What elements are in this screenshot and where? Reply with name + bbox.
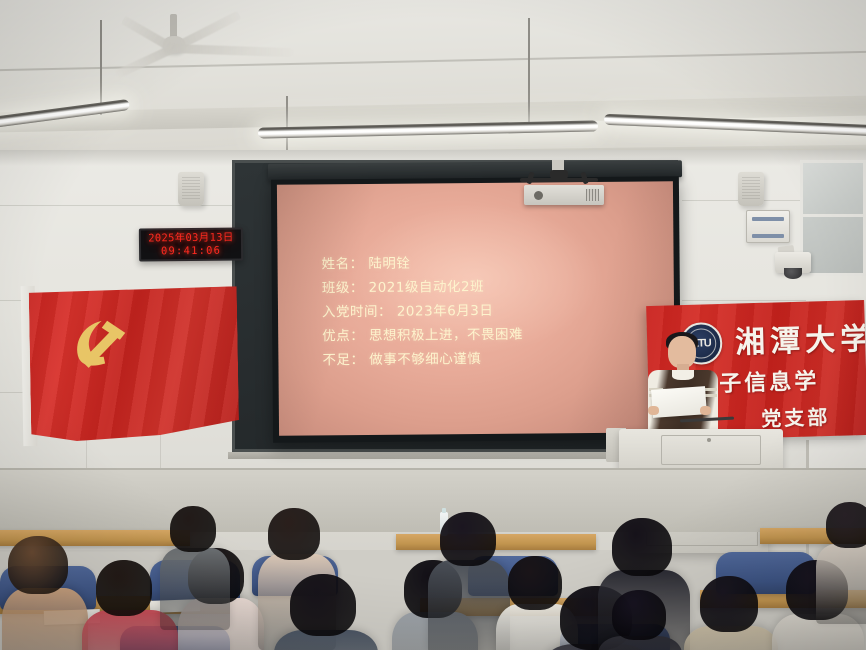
student-head — [826, 502, 866, 548]
light-suspension-rod — [100, 20, 102, 115]
led-clock-time: 09:41:06 — [161, 244, 221, 258]
banner-title: 湘潭大学 — [735, 314, 866, 362]
slide-content: 姓名： 陆明铨 班级： 2021级自动化2班 入党时间： 2023年6月3日 优… — [321, 249, 652, 372]
led-clock-display: 2025年03月13日 09:41:06 — [139, 227, 243, 261]
hammer-and-sickle-icon — [65, 312, 136, 375]
student-head — [508, 556, 562, 610]
wall-speaker-left — [178, 172, 204, 206]
slide-line-name: 姓名： 陆明铨 — [321, 249, 651, 276]
student-torso — [2, 588, 88, 650]
slide-line-weakness: 不足： 做事不够细心谨慎 — [322, 345, 652, 372]
podium-top — [619, 429, 783, 473]
student-torso — [160, 548, 230, 630]
presenter-script-paper — [651, 386, 707, 418]
wainscot — [0, 470, 866, 532]
light-suspension-rod — [528, 18, 530, 128]
presenter — [646, 330, 720, 440]
student-head — [440, 512, 496, 566]
projection-screen: 姓名： 陆明铨 班级： 2021级自动化2班 入党时间： 2023年6月3日 优… — [271, 176, 681, 443]
classroom-photo-scene: 不 忘 初 心 姓名： 陆明铨 班级： 2021级自动化2班 入党时间： 202… — [0, 0, 866, 650]
student-head — [8, 536, 68, 594]
slide-line-class: 班级： 2021级自动化2班 — [322, 273, 652, 300]
student-head — [290, 574, 356, 636]
slide-line-joindate: 入党时间： 2023年6月3日 — [322, 297, 652, 324]
banner-subtitle-2: 党支部 — [761, 401, 831, 432]
student-head — [612, 590, 666, 640]
student-head — [96, 560, 152, 616]
led-clock-date: 2025年03月13日 — [148, 231, 234, 245]
student-head — [170, 506, 216, 552]
student-head — [700, 576, 758, 632]
student-head — [268, 508, 320, 560]
wall-speaker-right — [738, 172, 764, 206]
av-control-panel[interactable] — [746, 210, 790, 243]
party-flag — [29, 286, 240, 442]
student-desk — [396, 534, 596, 550]
student-torso — [816, 544, 866, 624]
student-head — [612, 518, 672, 576]
slide-line-strength: 优点： 思想积极上进，不畏困难 — [322, 321, 652, 348]
